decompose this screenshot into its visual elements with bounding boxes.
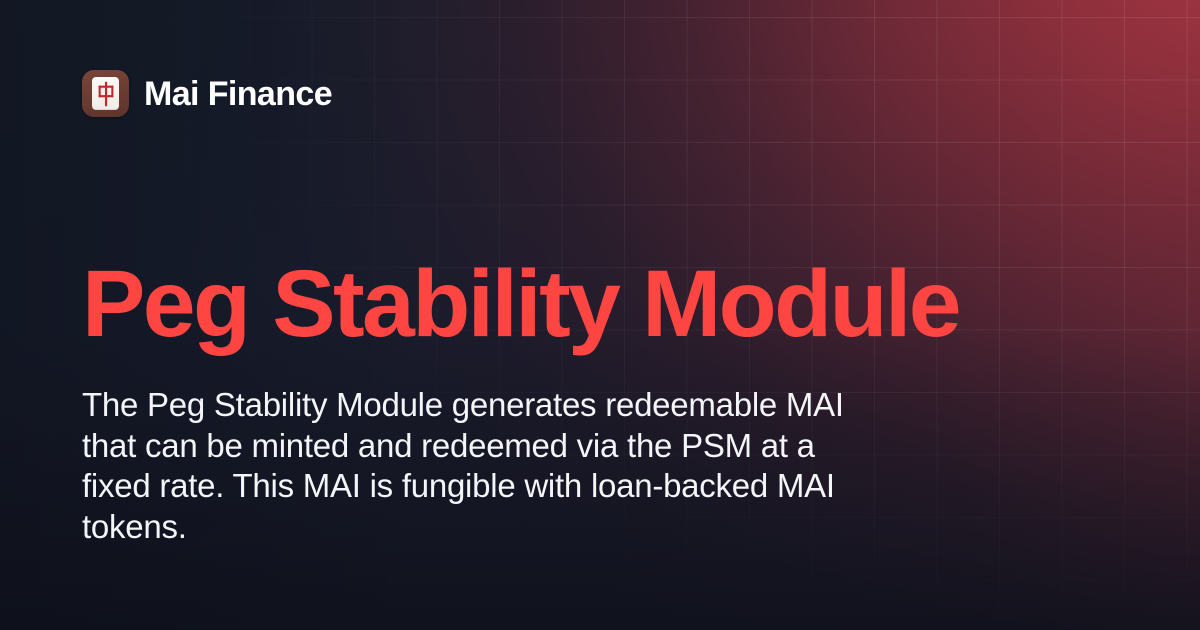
brand-name: Mai Finance xyxy=(144,77,332,111)
mahjong-tile-icon xyxy=(82,70,129,117)
mahjong-tile-face xyxy=(92,77,119,110)
card-content: Mai Finance Peg Stability Module The Peg… xyxy=(0,0,1200,630)
og-card: Mai Finance Peg Stability Module The Peg… xyxy=(0,0,1200,630)
brand-lockup: Mai Finance xyxy=(82,70,332,117)
page-title: Peg Stability Module xyxy=(82,256,959,354)
page-description: The Peg Stability Module generates redee… xyxy=(82,385,892,547)
